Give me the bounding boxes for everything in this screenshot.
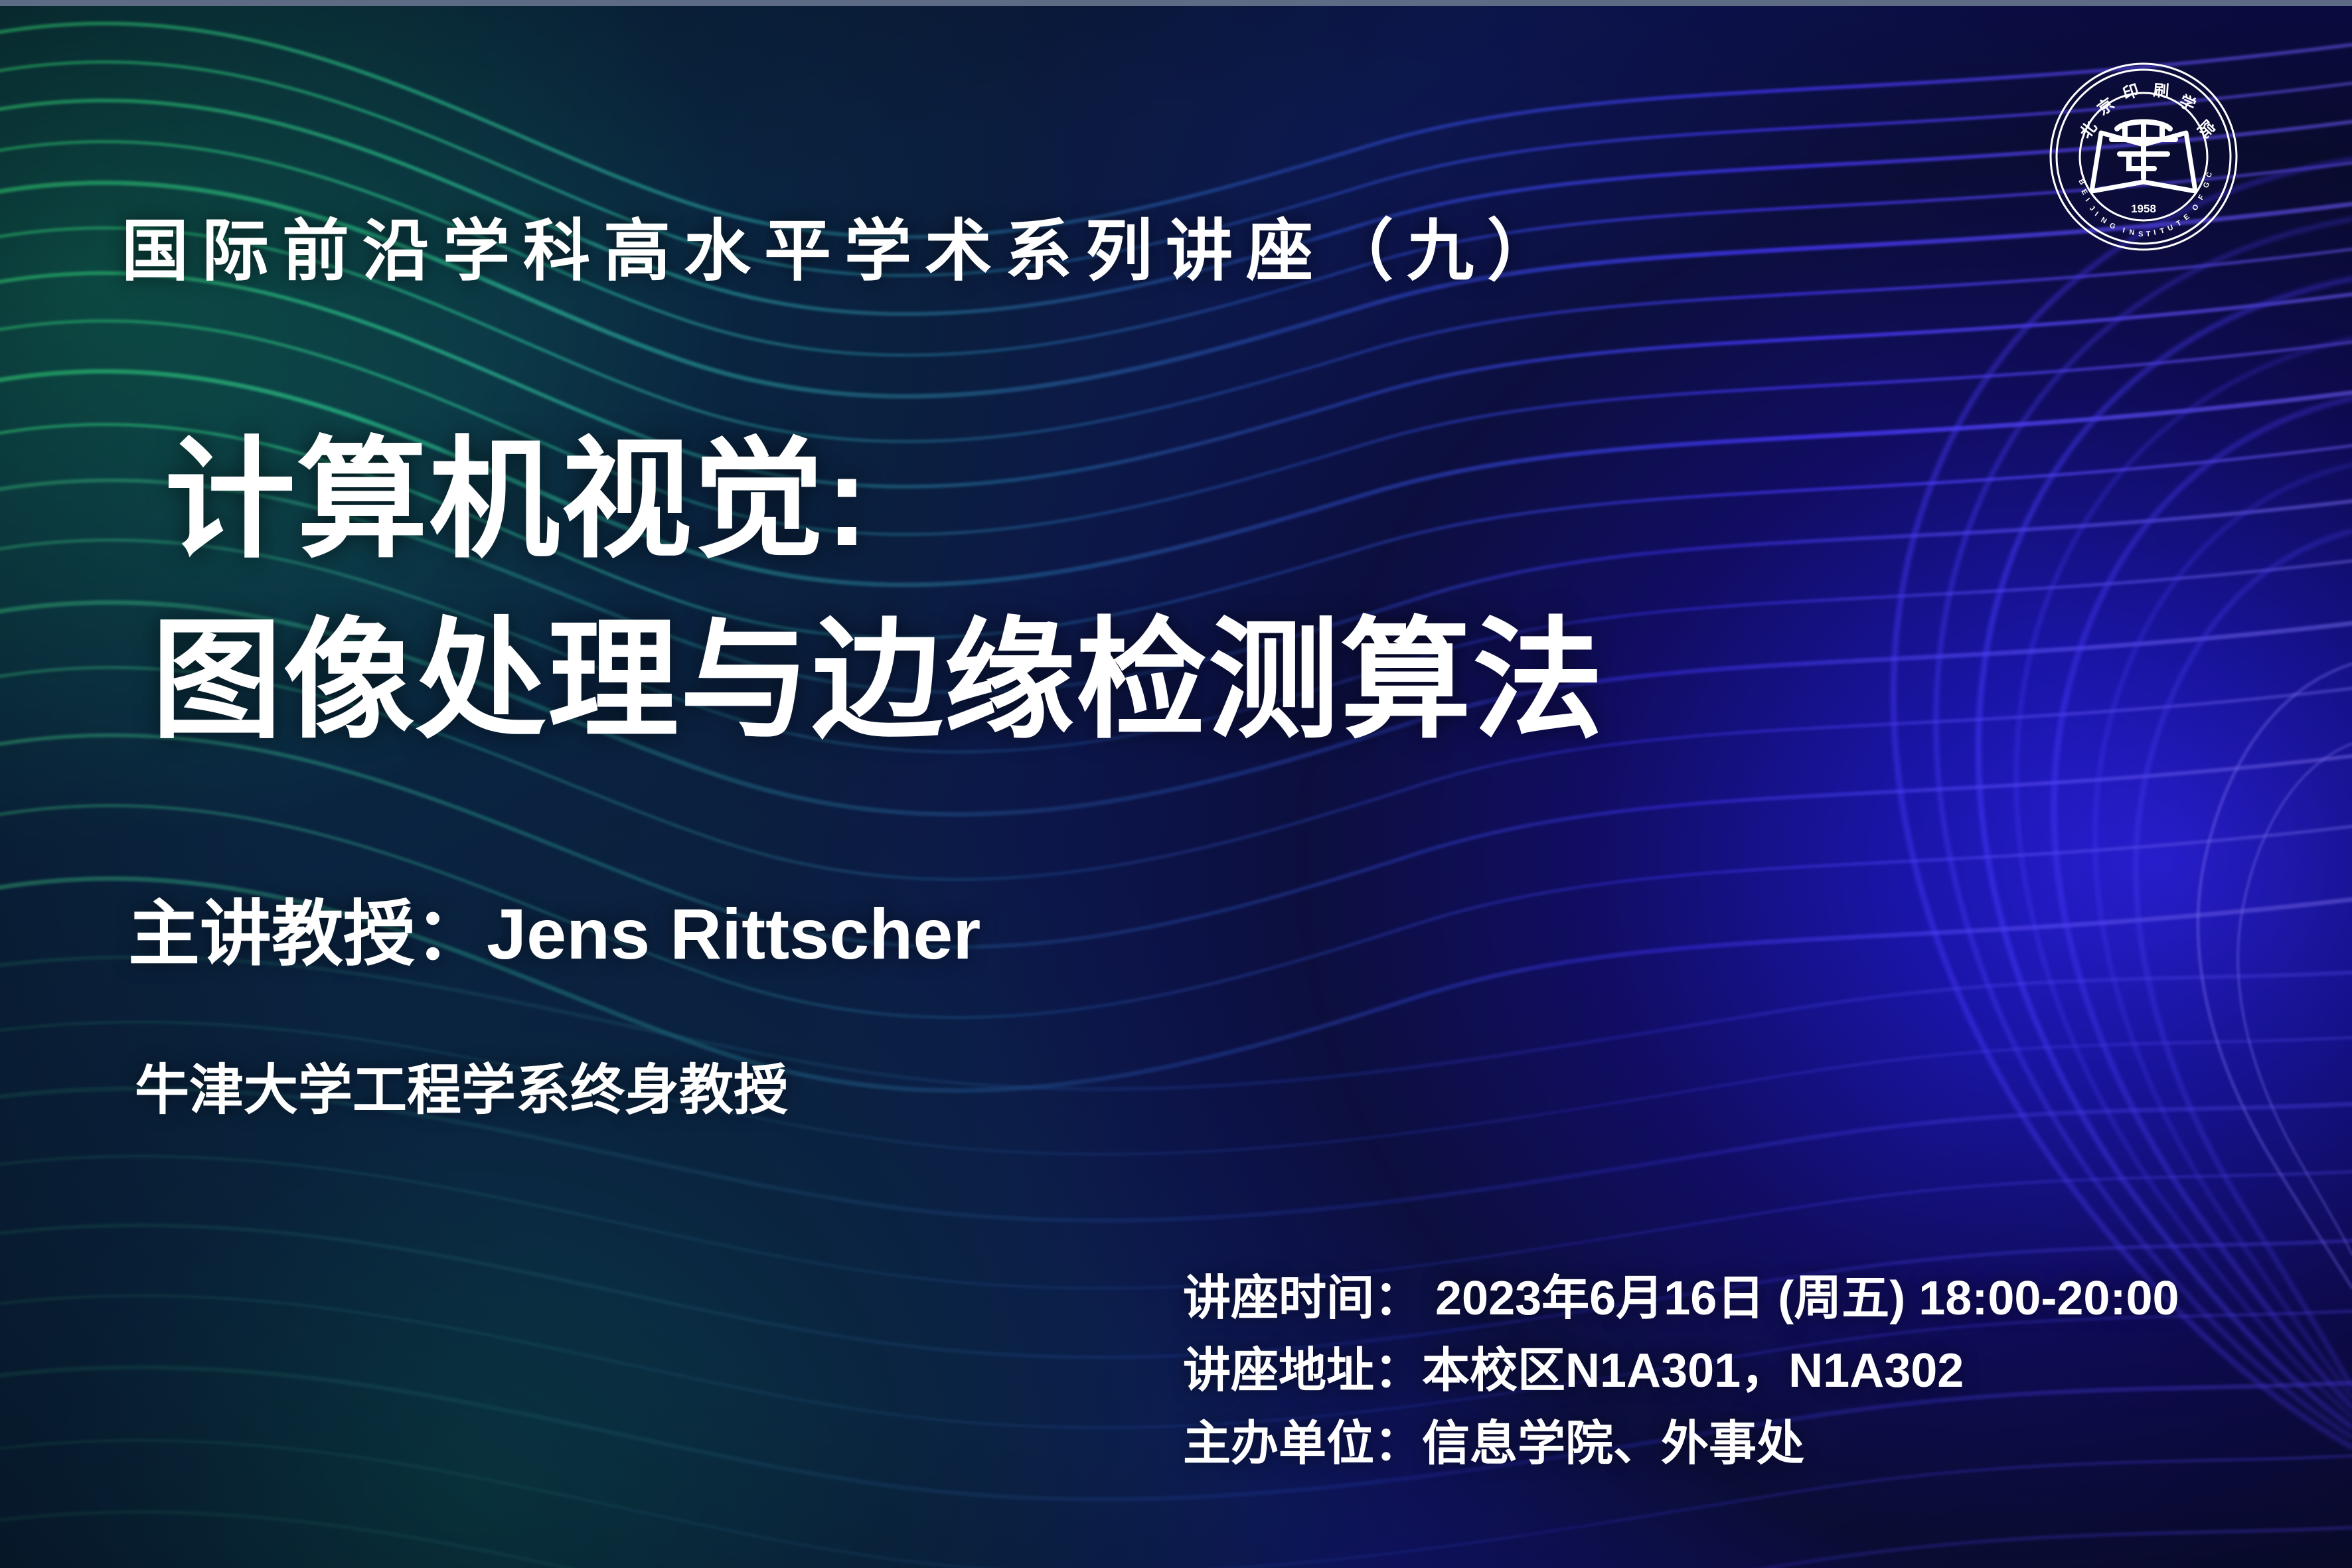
svg-text:I: I [2122, 226, 2125, 234]
svg-text:G: G [2202, 181, 2211, 190]
event-details: 讲座时间： 2023年6月16日 (周五) 18:00-20:00 讲座地址：本… [1183, 1263, 2179, 1480]
svg-text:B: B [2077, 178, 2086, 186]
speaker-affiliation: 牛津大学工程学系终身教授 [135, 1061, 788, 1121]
university-seal-logo: 1958 北 京 印 刷 学 院 B E I J I N G I N S T I… [2048, 61, 2239, 252]
svg-text:印: 印 [2121, 82, 2142, 104]
speaker-name: 主讲教授：Jens Rittscher [128, 895, 980, 974]
svg-text:京: 京 [2094, 94, 2118, 119]
svg-text:I: I [2153, 229, 2156, 237]
svg-text:O: O [2191, 202, 2201, 212]
page-title: 计算机视觉: 图像处理与边缘检测算法 [165, 410, 1605, 771]
svg-text:I: I [2084, 196, 2091, 203]
event-time: 讲座时间： 2023年6月16日 (周五) 18:00-20:00 [1183, 1263, 2179, 1335]
svg-text:T: T [2146, 230, 2151, 238]
svg-text:G: G [2108, 222, 2116, 231]
svg-text:T: T [2175, 219, 2183, 228]
lecture-poster: 1958 北 京 印 刷 学 院 B E I J I N G I N S T I… [0, 0, 2352, 1568]
svg-text:N: N [2129, 228, 2135, 237]
event-location: 讲座地址：本校区N1A301，N1A302 [1183, 1335, 2179, 1407]
svg-text:院: 院 [2194, 117, 2219, 141]
svg-text:F: F [2197, 193, 2206, 201]
svg-text:N: N [2100, 216, 2108, 225]
event-organizer: 主办单位：信息学院、外事处 [1183, 1408, 2179, 1480]
svg-text:学: 学 [2177, 92, 2199, 115]
svg-text:E: E [2182, 212, 2191, 222]
top-status-bar [0, 0, 2352, 6]
svg-text:J: J [2088, 204, 2096, 213]
logo-founded-year: 1958 [2131, 202, 2156, 215]
svg-text:E: E [2079, 188, 2088, 196]
svg-text:T: T [2159, 226, 2166, 235]
svg-text:刷: 刷 [2153, 82, 2170, 101]
series-kicker: 国际前沿学科高水平学术系列讲座（九） [121, 216, 1567, 287]
svg-text:I: I [2093, 210, 2100, 218]
title-line-1: 计算机视觉: [165, 427, 870, 573]
svg-text:C: C [2205, 171, 2214, 179]
title-line-2: 图像处理与边缘检测算法 [151, 591, 1605, 771]
svg-text:北: 北 [2077, 118, 2100, 142]
svg-text:S: S [2138, 230, 2144, 238]
svg-text:U: U [2167, 224, 2175, 233]
